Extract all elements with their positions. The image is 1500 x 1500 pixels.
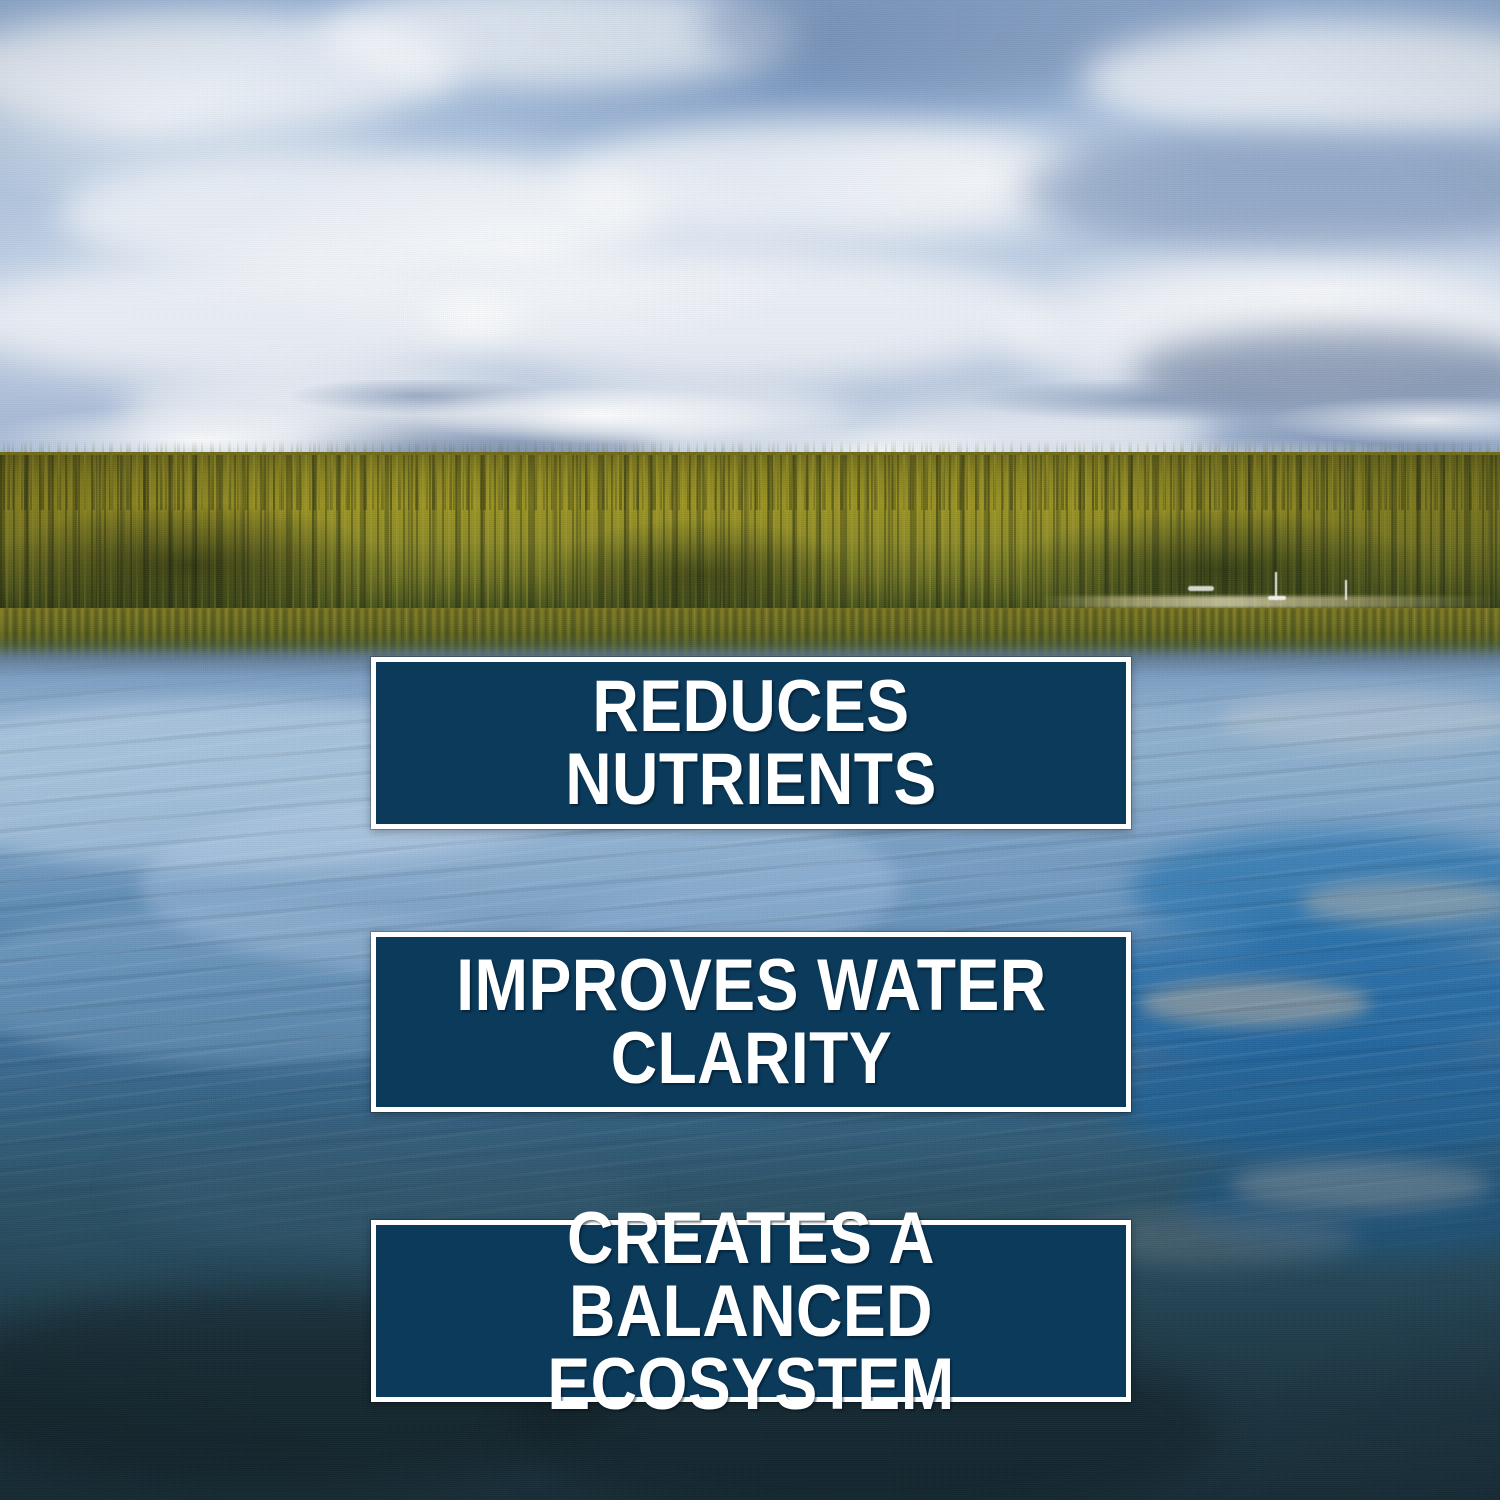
boat-dock [1188,586,1214,591]
benefit-banner-improves-water-clarity: IMPROVES WATER CLARITY [371,932,1131,1112]
cloud-wisp [560,120,1080,240]
benefit-banner-label: REDUCES NUTRIENTS [435,670,1067,816]
sailboat-mast [1345,580,1347,600]
benefit-banner-reduces-nutrients: REDUCES NUTRIENTS [371,657,1131,829]
product-benefits-image: REDUCES NUTRIENTS IMPROVES WATER CLARITY… [0,0,1500,1500]
sailboat-hull [1268,596,1286,600]
cloud-wisp [430,250,1050,380]
benefit-banner-creates-a-balanced-ecosystem: CREATES A BALANCED ECOSYSTEM [371,1220,1131,1402]
benefit-banner-label: IMPROVES WATER CLARITY [456,949,1046,1095]
benefit-banner-label: CREATES A BALANCED ECOSYSTEM [435,1202,1067,1421]
